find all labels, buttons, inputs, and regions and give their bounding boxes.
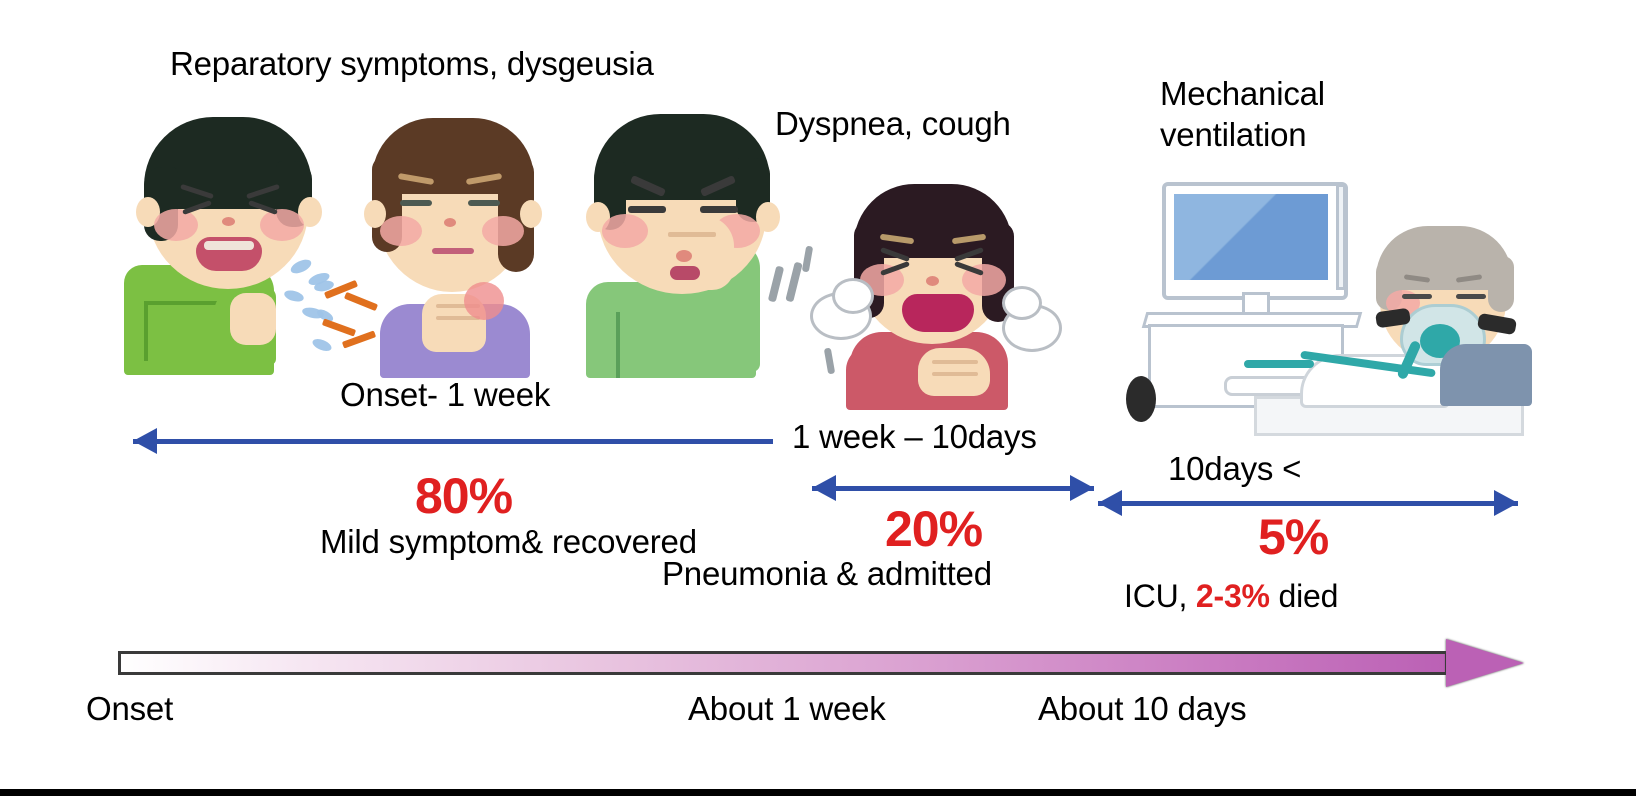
- illustration-dyspnea-woman-rose: [806, 182, 1056, 408]
- stage-mild-duration-label: Onset- 1 week: [340, 376, 550, 415]
- illustration-ventilated-patient-bed: [1104, 164, 1524, 454]
- stage-mild-arrow: [133, 428, 773, 454]
- arrow-line: [133, 439, 773, 444]
- stage-mild-percent: 80%: [415, 467, 512, 525]
- stage-mild-symptoms-label: Reparatory symptoms, dysgeusia: [170, 45, 654, 84]
- stage-pneumonia-outcome-label: Pneumonia & admitted: [662, 555, 992, 594]
- arrow-line: [1098, 501, 1518, 506]
- bottom-rule: [0, 789, 1636, 796]
- infographic-canvas: Reparatory symptoms, dysgeusia Dyspnea, …: [0, 0, 1636, 796]
- timeline-arrowhead-icon: [1446, 639, 1524, 687]
- illustration-sore-throat-woman-purple: [336, 108, 566, 376]
- arrow-line: [812, 486, 1094, 491]
- died-suffix: died: [1270, 578, 1338, 614]
- timeline-bar: [118, 651, 1448, 675]
- arrowhead-right-icon: [1494, 490, 1518, 516]
- arrowhead-left-icon: [1098, 490, 1122, 516]
- illustration-nose-holding-man-green: [572, 106, 812, 378]
- stage-critical-outcome-label: ICU, 2-3% died: [1124, 578, 1338, 616]
- death-rate-highlight: 2-3%: [1196, 578, 1270, 614]
- stage-critical-percent: 5%: [1258, 508, 1328, 566]
- timeline-tick-about-1-week: About 1 week: [688, 690, 886, 729]
- stage-critical-symptoms-line2: ventilation: [1160, 116, 1306, 155]
- arrowhead-left-icon: [133, 428, 157, 454]
- stage-pneumonia-arrow: [812, 475, 1094, 501]
- arrowhead-left-icon: [812, 475, 836, 501]
- timeline-gradient-arrow: [118, 646, 1448, 680]
- stage-mild-outcome-label: Mild symptom& recovered: [320, 523, 697, 562]
- timeline-tick-onset: Onset: [86, 690, 173, 729]
- stage-critical-duration-label: 10days <: [1168, 450, 1301, 489]
- arrowhead-right-icon: [1070, 475, 1094, 501]
- stage-pneumonia-duration-label: 1 week – 10days: [792, 418, 1037, 457]
- stage-critical-symptoms-line1: Mechanical: [1160, 75, 1325, 114]
- icu-prefix: ICU,: [1124, 578, 1196, 614]
- timeline-tick-about-10-days: About 10 days: [1038, 690, 1246, 729]
- illustration-coughing-boy-green: [118, 105, 348, 375]
- stage-pneumonia-percent: 20%: [885, 500, 982, 558]
